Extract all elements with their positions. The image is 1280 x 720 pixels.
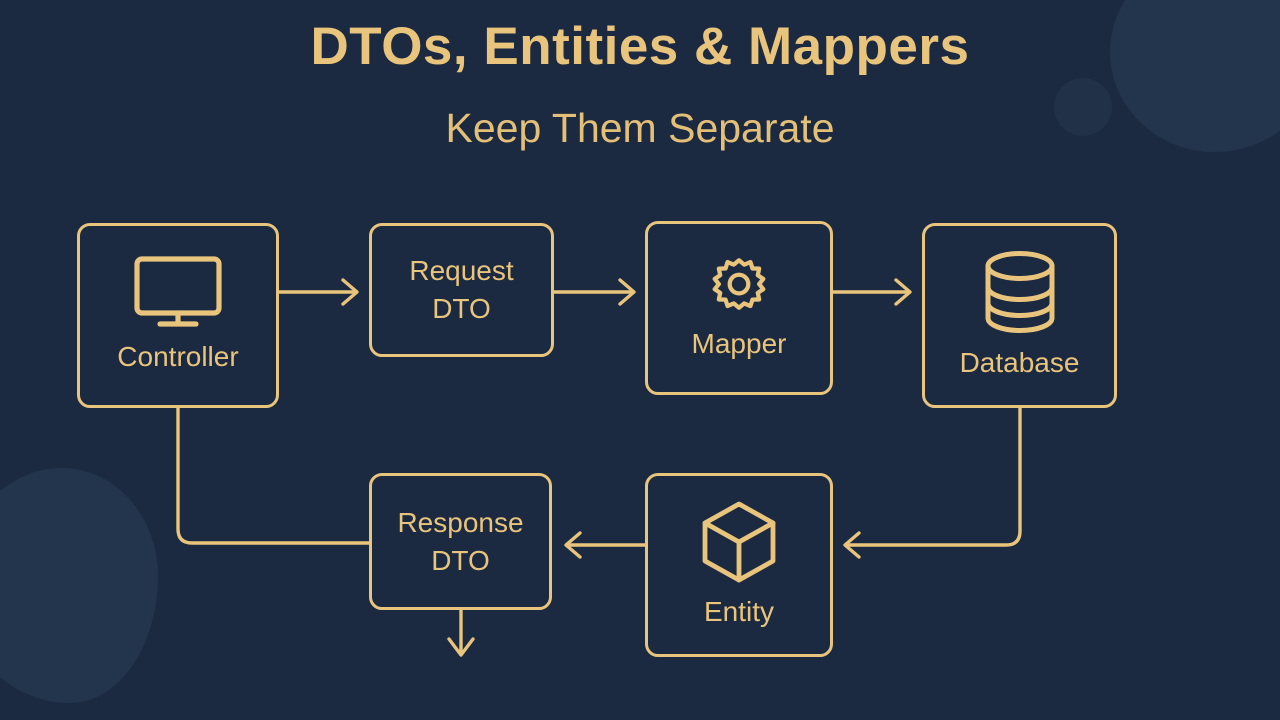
- node-mapper-label: Mapper: [692, 325, 787, 363]
- node-database[interactable]: Database: [922, 223, 1117, 408]
- node-mapper[interactable]: Mapper: [645, 221, 833, 395]
- edge-database-to-entity: [845, 408, 1020, 557]
- edge-controller-to-response-dto: [178, 408, 369, 543]
- gear-icon: [708, 254, 770, 316]
- node-entity[interactable]: Entity: [645, 473, 833, 657]
- monitor-icon: [131, 255, 225, 329]
- node-request-dto[interactable]: Request DTO: [369, 223, 554, 357]
- node-controller-label: Controller: [117, 338, 238, 376]
- node-database-label: Database: [960, 344, 1080, 382]
- edge-request-dto-to-mapper: [554, 280, 634, 304]
- slide-canvas: DTOs, Entities & Mappers Keep Them Separ…: [0, 0, 1280, 720]
- edge-response-dto-out: [449, 610, 473, 655]
- edge-controller-to-request-dto: [279, 280, 357, 304]
- node-response-dto[interactable]: Response DTO: [369, 473, 552, 610]
- database-icon: [979, 249, 1061, 335]
- node-controller[interactable]: Controller: [77, 223, 279, 408]
- node-entity-label: Entity: [704, 593, 774, 631]
- node-response-dto-label: Response DTO: [397, 504, 523, 580]
- cube-icon: [698, 500, 780, 584]
- edge-mapper-to-database: [833, 280, 910, 304]
- node-request-dto-label: Request DTO: [409, 252, 513, 328]
- edge-entity-to-response-dto: [566, 533, 645, 557]
